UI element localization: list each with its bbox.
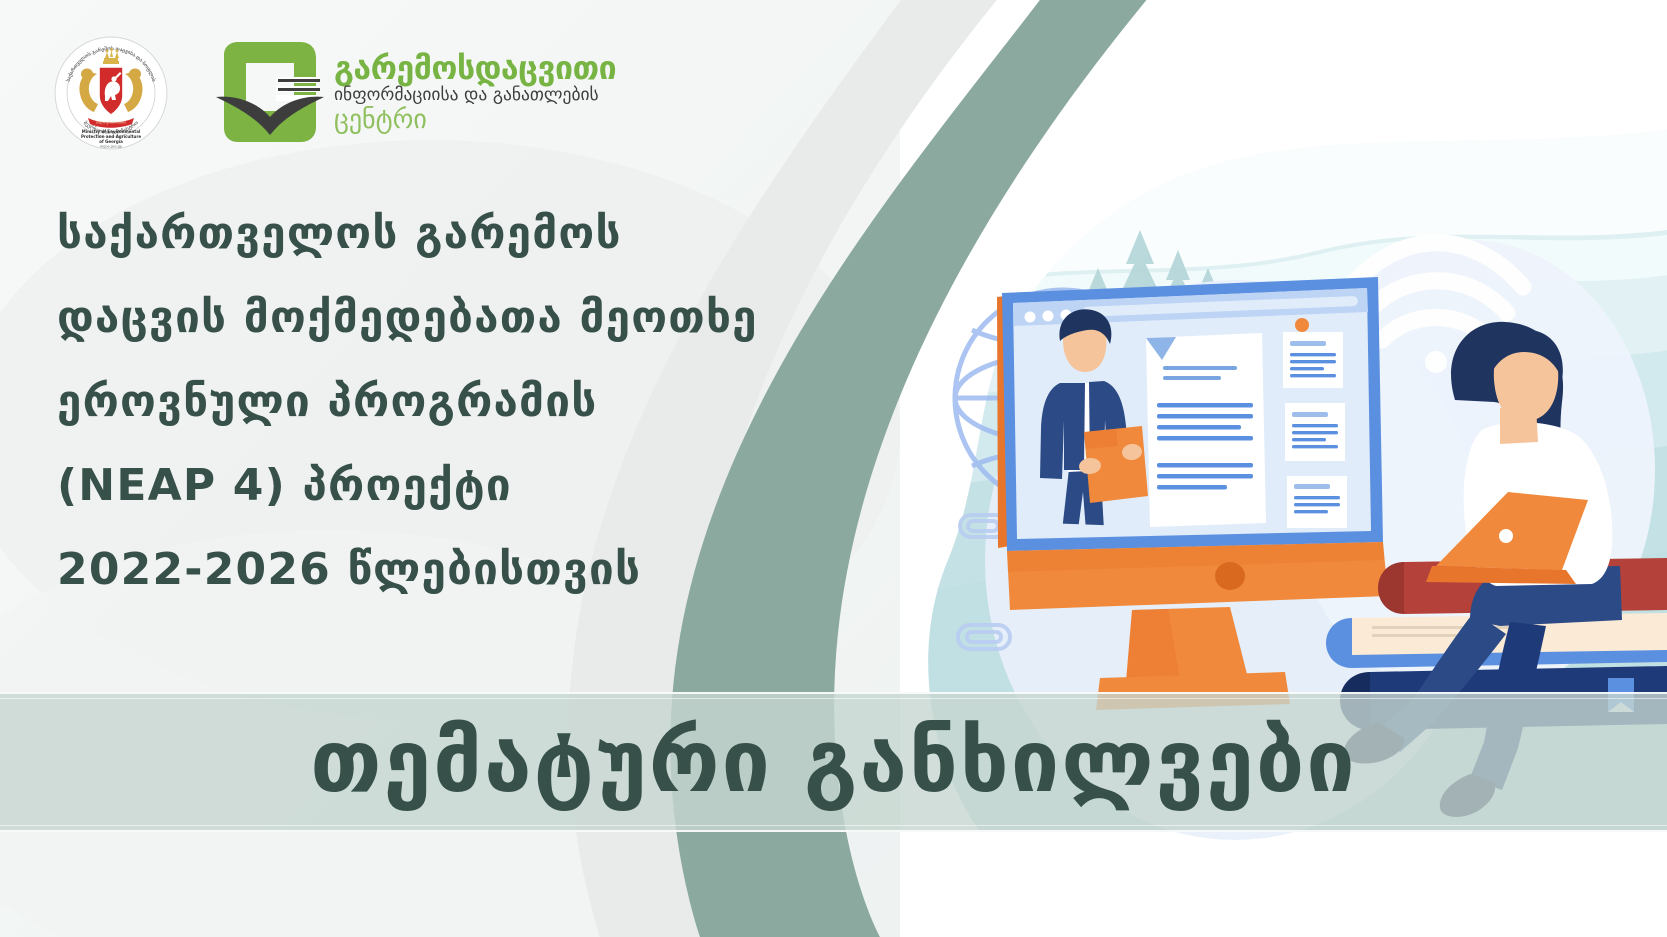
title-line-1: საქართველოს გარემოს [57, 212, 757, 256]
georgia-coat-of-arms-seal-icon: საქართველოს გარემოს დაცვისა და სოფლის მე… [52, 34, 170, 152]
title-line-3: ეროვნული პროგრამის [57, 380, 757, 424]
svg-text:ძალა ერთობაშია: ძალა ერთობაშია [96, 120, 126, 124]
page-title: საქართველოს გარემოს დაცვის მოქმედებათა მ… [57, 212, 757, 592]
eiec-logo-line-3: ცენტრი [334, 107, 616, 133]
title-line-5: 2022-2026 წლებისთვის [57, 548, 757, 592]
banner-title: თემატური განხილვები [0, 692, 1667, 832]
bottom-banner: თემატური განხილვები [0, 692, 1667, 832]
ministry-seal-logo: საქართველოს გარემოს დაცვისა და სოფლის მე… [52, 34, 170, 152]
eiec-logo-line-2: ინფორმაციისა და განათლების [334, 87, 616, 105]
title-line-4: (NEAP 4) პროექტი [57, 464, 757, 508]
svg-text:of Georgia: of Georgia [99, 139, 123, 144]
header-logos: საქართველოს გარემოს დაცვისა და სოფლის მე… [0, 0, 620, 185]
title-line-2: დაცვის მოქმედებათა მეოთხე [57, 296, 757, 340]
open-book-square-logo-icon [216, 39, 328, 147]
poster-canvas: საქართველოს გარემოს დაცვისა და სოფლის მე… [0, 0, 1667, 937]
svg-text:mepa.gov.ge: mepa.gov.ge [100, 144, 122, 148]
eiec-logo-line-1: გარემოსდაცვითი [334, 52, 616, 84]
eiec-logo: გარემოსდაცვითი ინფორმაციისა და განათლები… [216, 39, 616, 147]
paperclip-icon-2 [958, 625, 1010, 649]
